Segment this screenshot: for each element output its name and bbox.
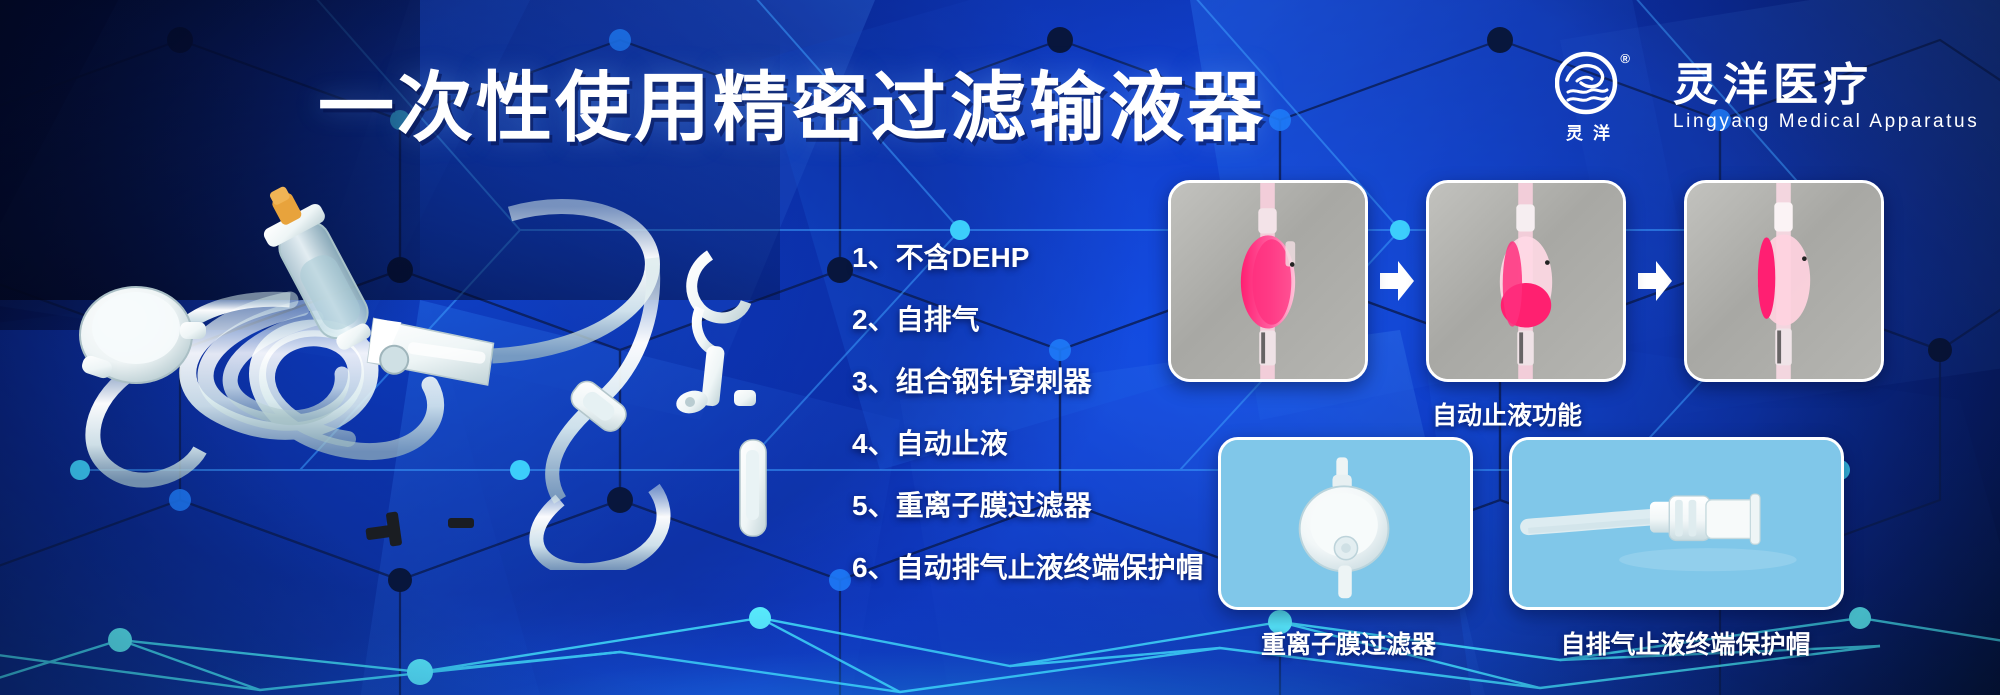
- feature-item: 4、自动止液: [852, 418, 1204, 470]
- company-name-cn: 灵洋医疗: [1673, 61, 1979, 109]
- autostop-caption: 自动止液功能: [1168, 396, 1846, 432]
- feature-item: 5、重离子膜过滤器: [852, 480, 1204, 532]
- page-title: 一次性使用精密过滤输液器: [318, 46, 1266, 156]
- lingyang-circular-emblem-icon: ®: [1555, 50, 1621, 116]
- feature-item: 1、不含DEHP: [852, 232, 1204, 284]
- autostop-step-photo: [1684, 180, 1884, 382]
- autostop-step-photo: [1426, 180, 1626, 382]
- autostop-step-photo: [1168, 180, 1368, 382]
- detail-card-filter: [1218, 437, 1473, 610]
- feature-list: 1、不含DEHP 2、自排气 3、组合钢针穿刺器 4、自动止液 5、重离子膜过滤…: [852, 232, 1204, 594]
- logo-divider: [1651, 68, 1653, 126]
- detail-card-group: [1218, 437, 1844, 610]
- company-name-en: Lingyang Medical Apparatus: [1673, 111, 1979, 133]
- registered-trademark-icon: ®: [1620, 52, 1630, 65]
- arrow-right-icon: [1378, 259, 1416, 303]
- feature-item: 2、自排气: [852, 294, 1204, 346]
- feature-item: 6、自动排气止液终端保护帽: [852, 542, 1204, 594]
- detail-card-protective-cap: [1509, 437, 1844, 610]
- detail-card-caption: 重离子膜过滤器: [1218, 625, 1479, 661]
- arrow-right-icon: [1636, 259, 1674, 303]
- feature-item: 3、组合钢针穿刺器: [852, 356, 1204, 408]
- detail-card-caption: 自排气止液终端保护帽: [1515, 625, 1856, 661]
- product-part-needle-clamp: [674, 255, 756, 417]
- logo-wordmark: 灵洋医疗 Lingyang Medical Apparatus: [1673, 61, 1979, 133]
- product-part-tube-clamp: [365, 511, 474, 546]
- logo-emblem-caption: 灵洋: [1556, 119, 1620, 144]
- product-banner: 一次性使用精密过滤输液器 ® 灵洋 灵洋医疗 Lingyang Medical …: [0, 0, 2000, 695]
- logo-emblem-block: ® 灵洋: [1545, 50, 1631, 144]
- product-part-protective-cap: [740, 440, 766, 536]
- brand-logo: ® 灵洋 灵洋医疗 Lingyang Medical Apparatus: [1545, 50, 1979, 144]
- product-hero-image: [40, 150, 800, 570]
- autostop-sequence: [1168, 180, 1884, 382]
